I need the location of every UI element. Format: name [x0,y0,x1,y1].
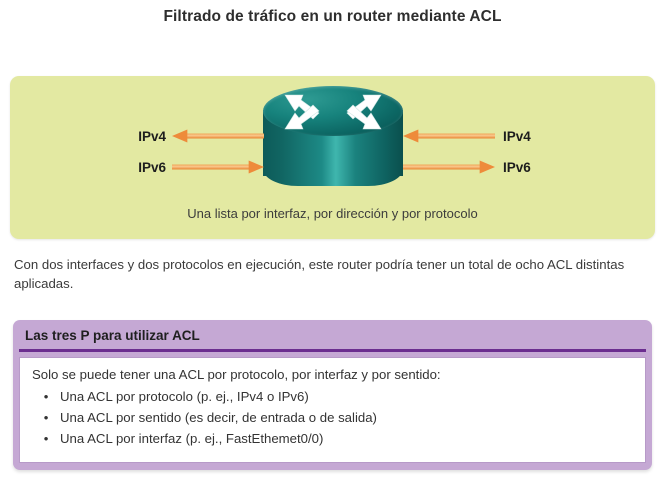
bullet-marker-icon: • [32,386,60,407]
flow-label-right-ipv6: IPv6 [495,160,541,175]
arrow-right-icon [403,160,495,174]
flow-right-ipv6: IPv6 [403,158,541,176]
list-item: • Una ACL por interfaz (p. ej., FastEthe… [32,428,633,449]
flow-right-ipv4: IPv4 [403,127,541,145]
list-item-text: Una ACL por protocolo (p. ej., IPv4 o IP… [60,386,633,407]
router-crossed-arrows-icon [277,88,389,136]
flow-left-ipv6: IPv6 [128,158,264,176]
bullet-marker-icon: • [32,407,60,428]
arrow-left-icon [403,129,495,143]
arrow-left-icon [172,129,264,143]
diagram-caption: Una lista por interfaz, por dirección y … [10,206,655,221]
list-item-text: Una ACL por interfaz (p. ej., FastEtheme… [60,428,633,449]
callout-box: Las tres P para utilizar ACL Solo se pue… [13,320,652,470]
router-cylinder-bottom [263,152,403,186]
body-paragraph: Con dos interfaces y dos protocolos en e… [14,255,650,293]
page-title: Filtrado de tráfico en un router mediant… [0,8,665,26]
callout-divider [19,349,646,352]
flow-left-ipv4: IPv4 [128,127,264,145]
arrow-right-icon [172,160,264,174]
list-item: • Una ACL por sentido (es decir, de entr… [32,407,633,428]
router-diagram-panel: IPv4 IPv6 [10,76,655,239]
callout-intro: Solo se puede tener una ACL por protocol… [32,367,633,382]
list-item-text: Una ACL por sentido (es decir, de entrad… [60,407,633,428]
callout-bullet-list: • Una ACL por protocolo (p. ej., IPv4 o … [32,386,633,449]
bullet-marker-icon: • [32,428,60,449]
flow-label-left-ipv6: IPv6 [128,160,172,175]
callout-body: Solo se puede tener una ACL por protocol… [19,357,646,463]
flow-label-right-ipv4: IPv4 [495,129,541,144]
callout-header: Las tres P para utilizar ACL [13,320,652,347]
router-icon [263,86,403,196]
list-item: • Una ACL por protocolo (p. ej., IPv4 o … [32,386,633,407]
flow-label-left-ipv4: IPv4 [128,129,172,144]
